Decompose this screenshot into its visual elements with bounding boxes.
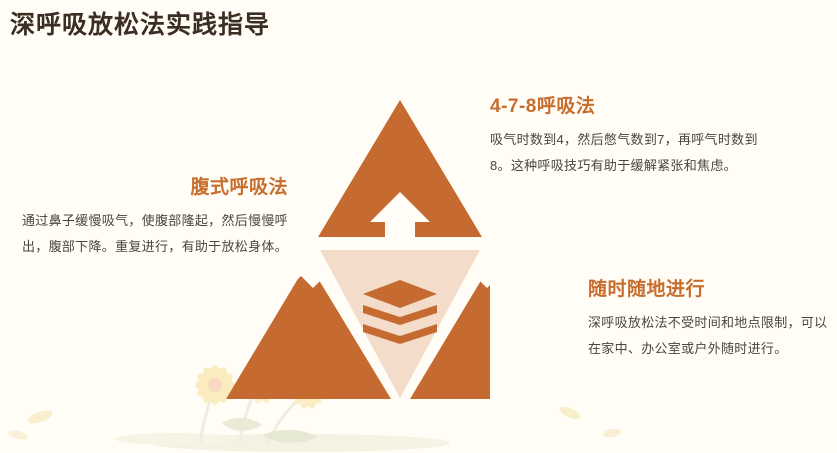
section-four-seven-eight: 4-7-8呼吸法 吸气时数到4，然后憋气数到7，再呼气时数到8。这种呼吸技巧有助… [490,95,775,179]
page-title: 深呼吸放松法实践指导 [10,10,270,40]
section-body-anytime-anywhere: 深呼吸放松法不受时间和地点限制，可以在家中、办公室或户外随时进行。 [588,310,833,362]
infographic-canvas: 深呼吸放松法实践指导 [0,0,837,453]
section-body-abdominal-breathing: 通过鼻子缓慢吸气，使腹部隆起，然后慢慢呼出，腹部下降。重复进行，有助于放松身体。 [10,208,288,260]
section-heading-anytime-anywhere: 随时随地进行 [588,278,833,302]
top-triangle-segment [318,100,482,239]
section-abdominal-breathing: 腹式呼吸法 通过鼻子缓慢吸气，使腹部隆起，然后慢慢呼出，腹部下降。重复进行，有助… [10,176,288,260]
section-anytime-anywhere: 随时随地进行 深呼吸放松法不受时间和地点限制，可以在家中、办公室或户外随时进行。 [588,278,833,362]
section-heading-four-seven-eight: 4-7-8呼吸法 [490,95,775,119]
section-heading-abdominal-breathing: 腹式呼吸法 [10,176,288,200]
section-body-four-seven-eight: 吸气时数到4，然后憋气数到7，再呼气时数到8。这种呼吸技巧有助于缓解紧张和焦虑。 [490,127,775,179]
